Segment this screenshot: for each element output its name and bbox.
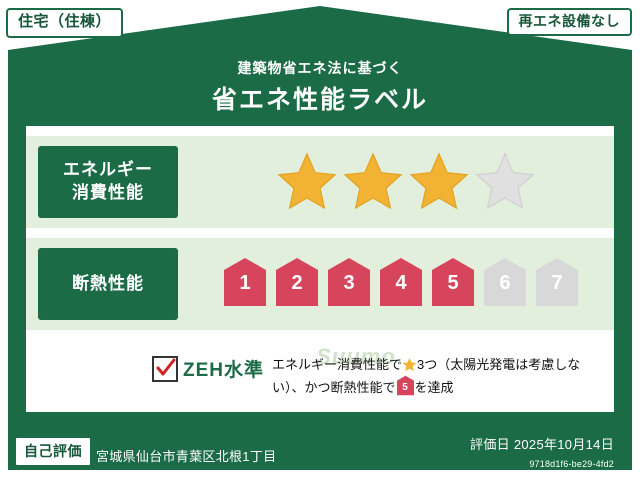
energy-performance-label: 住宅（住棟） 再エネ設備なし 建築物省エネ法に基づく 省エネ性能ラベル エネルギ… <box>0 0 640 479</box>
tag-dwelling-label: 住宅（住棟） <box>18 13 111 30</box>
star-icon-2 <box>342 150 404 212</box>
energy-performance-label-line1: エネルギー <box>63 159 153 182</box>
insulation-level-6-value: 6 <box>482 272 528 295</box>
house-icon-level-3: 3 <box>326 256 372 308</box>
tag-renewable-equipment: 再エネ設備なし <box>507 8 633 36</box>
property-address: 宮城県仙台市青葉区北根1丁目 <box>96 446 276 465</box>
mini-house-value: 5 <box>396 380 415 397</box>
house-icon-level-6: 6 <box>482 256 528 308</box>
insulation-level-7-value: 7 <box>534 272 580 295</box>
heading-title: 省エネ性能ラベル <box>0 80 640 116</box>
energy-star-rating <box>276 150 536 212</box>
star-icon-3 <box>408 150 470 212</box>
tag-renewable-label: 再エネ設備なし <box>519 13 621 29</box>
document-id: 9718d1f6-be29-4fd2 <box>529 459 614 469</box>
house-icon-level-7: 7 <box>534 256 580 308</box>
zeh-description-part1: エネルギー消費性能で <box>272 357 402 372</box>
star-icon-4 <box>474 150 536 212</box>
tag-dwelling-type: 住宅（住棟） <box>6 8 123 38</box>
insulation-level-2-value: 2 <box>274 272 320 295</box>
evaluation-badge-label: 自己評価 <box>24 443 82 459</box>
insulation-performance-label: 断熱性能 <box>72 273 144 296</box>
house-icon-level-5: 5 <box>430 256 476 308</box>
zeh-label: ZEH水準 <box>183 355 264 382</box>
heading-subtitle: 建築物省エネ法に基づく <box>0 58 640 78</box>
zeh-description-part2: 3つ（太陽光発電 <box>417 357 515 372</box>
mini-house-icon: 5 <box>396 375 415 396</box>
zeh-description: エネルギー消費性能で3つ（太陽光発電は考慮しない）、かつ断熱性能で5を達成 <box>272 354 582 399</box>
evaluation-date: 評価日 2025年10月14日 <box>470 434 614 453</box>
insulation-performance-category: 断熱性能 <box>38 248 178 320</box>
content-panel: エネルギー 消費性能 断熱性能 <box>26 126 614 412</box>
mini-star-icon <box>402 357 417 372</box>
house-icon-level-2: 2 <box>274 256 320 308</box>
insulation-level-1-value: 1 <box>222 272 268 295</box>
evaluation-badge: 自己評価 <box>14 436 92 467</box>
insulation-level-3-value: 3 <box>326 272 372 295</box>
energy-performance-label-line2: 消費性能 <box>72 182 144 205</box>
house-icon-level-1: 1 <box>222 256 268 308</box>
zeh-row: ZEH水準 エネルギー消費性能で3つ（太陽光発電は考慮しない）、かつ断熱性能で5… <box>26 338 614 408</box>
insulation-performance-row: 断熱性能 1 2 3 4 <box>26 238 614 330</box>
insulation-level-scale: 1 2 3 4 5 <box>222 256 580 308</box>
insulation-level-4-value: 4 <box>378 272 424 295</box>
zeh-description-part4: を達成 <box>415 380 454 395</box>
energy-performance-category: エネルギー 消費性能 <box>38 146 178 218</box>
house-icon-level-4: 4 <box>378 256 424 308</box>
insulation-level-5-value: 5 <box>430 272 476 295</box>
star-icon-1 <box>276 150 338 212</box>
zeh-checkbox <box>152 356 178 382</box>
energy-performance-row: エネルギー 消費性能 <box>26 136 614 228</box>
